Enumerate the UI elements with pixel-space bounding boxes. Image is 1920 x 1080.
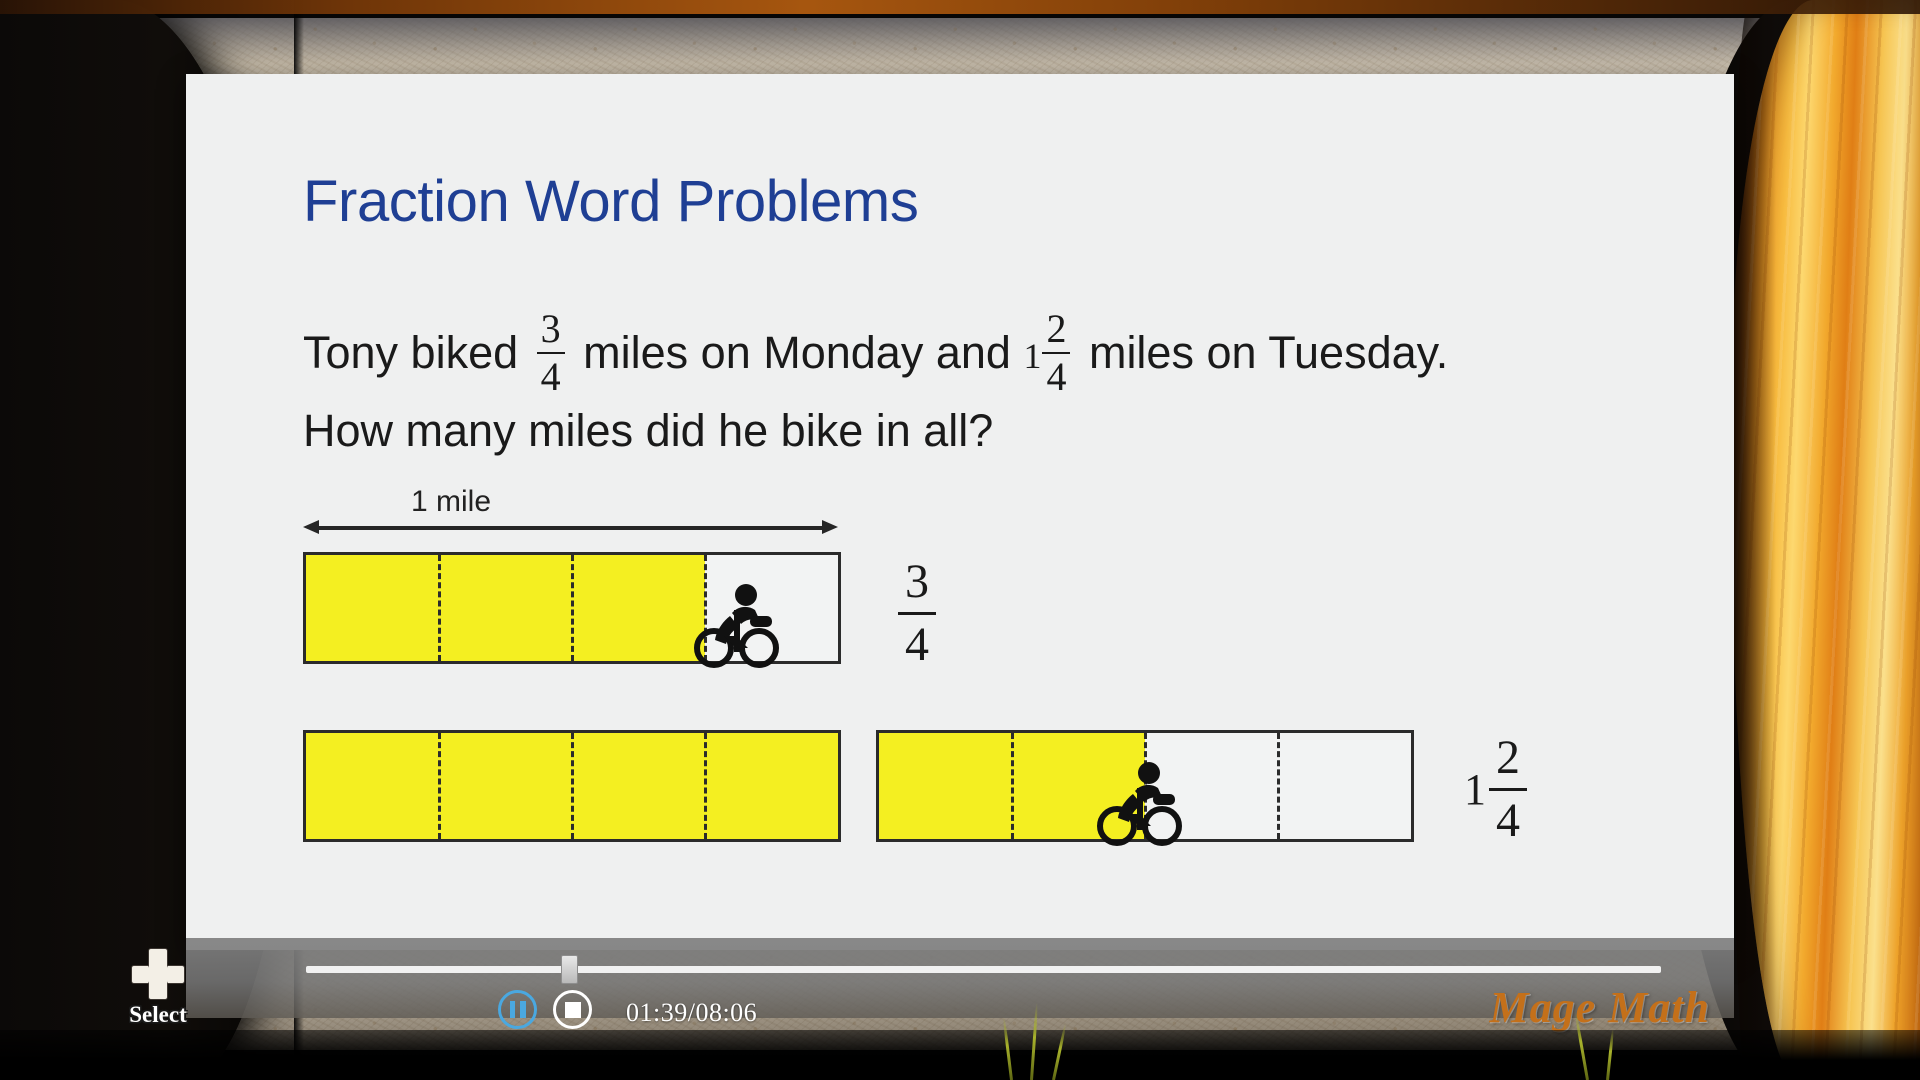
row2-numerator: 2: [1496, 734, 1520, 782]
watermark-logo: Mage Math: [1490, 982, 1710, 1033]
row2-fraction: 2 4: [1489, 734, 1527, 845]
page-title: Fraction Word Problems: [303, 173, 918, 231]
pause-icon: [510, 1001, 526, 1018]
fraction-bar-row2-b: [876, 730, 1414, 842]
dpad-icon[interactable]: [127, 948, 189, 1000]
bottom-shadow: [0, 1030, 1920, 1080]
fraction-bar-row2-a: [303, 730, 841, 842]
pause-button[interactable]: [498, 990, 537, 1029]
row1-denominator: 4: [905, 621, 929, 669]
fraction-bar-row1: [303, 552, 841, 664]
bar-cell-empty: [1278, 733, 1411, 839]
select-label: Select: [112, 1002, 204, 1028]
bar-cell-filled: [572, 555, 705, 661]
problem-text-b: miles on Monday and: [583, 327, 1011, 378]
fraction-three-fourths: 3 4: [537, 309, 565, 397]
bar-cell-empty: [1145, 733, 1278, 839]
bar-cell-filled: [439, 733, 572, 839]
arrow-shaft: [315, 526, 826, 530]
top-glow-strip: [0, 0, 1920, 14]
stop-button[interactable]: [553, 990, 592, 1029]
bar-cell-filled: [439, 555, 572, 661]
row2-denominator: 4: [1496, 797, 1520, 845]
problem-statement: Tony biked 3 4 miles on Monday and 1 2 4…: [303, 312, 1683, 461]
mixed-fraction-part: 2 4: [1042, 309, 1070, 397]
row1-numerator: 3: [905, 558, 929, 606]
scale-label-one-mile: 1 mile: [411, 485, 491, 519]
row2-value-label: 1 2 4: [1464, 734, 1527, 845]
bar-cell-filled: [306, 555, 439, 661]
media-player-bar: 01:39/08:06 Mage Math: [186, 938, 1734, 1018]
bar-cell-filled: [572, 733, 705, 839]
bar-cell-filled: [879, 733, 1012, 839]
one-mile-arrow: [303, 520, 838, 534]
arrow-head-right-icon: [822, 520, 838, 534]
time-display: 01:39/08:06: [626, 998, 757, 1028]
bar-cell-filled: [1012, 733, 1145, 839]
row1-fraction-bar: [898, 612, 936, 615]
seek-bar[interactable]: [306, 966, 1661, 973]
dpad-center: [148, 965, 168, 984]
row1-value-label: 3 4: [898, 558, 936, 669]
seek-thumb[interactable]: [561, 955, 578, 984]
mixed-numerator: 2: [1044, 309, 1068, 349]
fraction-denominator: 4: [539, 357, 563, 397]
bar-cell-filled: [306, 733, 439, 839]
lesson-slide: Fraction Word Problems Tony biked 3 4 mi…: [186, 74, 1734, 950]
row2-whole-part: 1: [1464, 764, 1486, 815]
right-orange-curtain: [1730, 0, 1920, 1080]
fraction-numerator: 3: [539, 309, 563, 349]
problem-text-c: miles on Tuesday.: [1089, 327, 1448, 378]
row1-fraction: 3 4: [898, 558, 936, 669]
select-control[interactable]: Select: [112, 948, 204, 1028]
bar-cell-empty: [705, 555, 838, 661]
problem-line-2: How many miles did he bike in all?: [303, 400, 1683, 461]
problem-text-a: Tony biked: [303, 327, 518, 378]
problem-line-1: Tony biked 3 4 miles on Monday and 1 2 4…: [303, 312, 1683, 400]
game-screen: Fraction Word Problems Tony biked 3 4 mi…: [0, 0, 1920, 1080]
stop-icon: [565, 1002, 581, 1018]
row2-fraction-bar: [1489, 788, 1527, 791]
mixed-whole-part: 1: [1023, 332, 1041, 381]
mixed-denominator: 4: [1044, 357, 1068, 397]
bar-cell-filled: [705, 733, 838, 839]
mixed-number-one-and-two-fourths: 1 2 4: [1023, 312, 1076, 400]
